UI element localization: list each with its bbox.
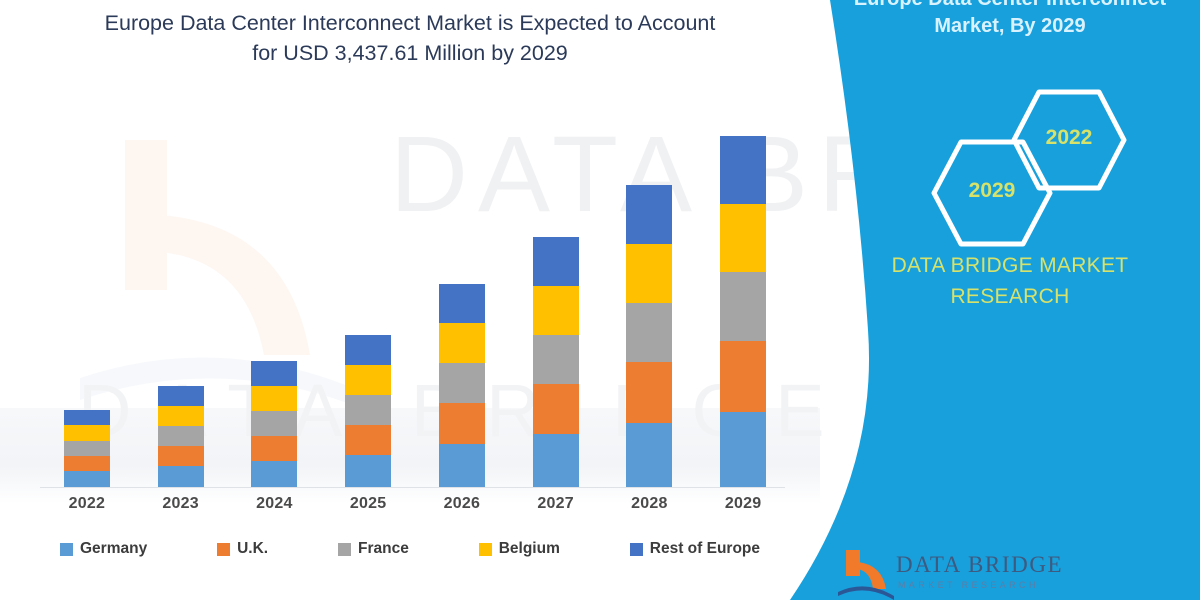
- bar-group-2028: [604, 100, 694, 487]
- legend-label: U.K.: [237, 540, 268, 558]
- right-panel-title: Europe Data Center Interconnect Market, …: [830, 0, 1190, 40]
- legend-item-belgium[interactable]: Belgium: [479, 540, 560, 558]
- bar-segment-france[interactable]: [533, 335, 579, 384]
- x-axis-label-2025: 2025: [323, 495, 413, 513]
- right-panel-title-line-1: Europe Data Center Interconnect: [854, 0, 1166, 10]
- chart-legend: GermanyU.K.FranceBelgiumRest of Europe: [60, 540, 760, 558]
- stacked-bar-2023[interactable]: [158, 386, 204, 487]
- bar-segment-france[interactable]: [251, 411, 297, 436]
- bar-segment-rest-of-europe[interactable]: [251, 361, 297, 386]
- x-axis-label-2028: 2028: [604, 495, 694, 513]
- bar-segment-rest-of-europe[interactable]: [533, 237, 579, 286]
- bar-group-2027: [511, 100, 601, 487]
- bar-segment-germany[interactable]: [251, 461, 297, 487]
- stacked-bar-2024[interactable]: [251, 361, 297, 487]
- legend-swatch-icon: [479, 543, 492, 556]
- legend-swatch-icon: [630, 543, 643, 556]
- bar-segment-rest-of-europe[interactable]: [626, 185, 672, 244]
- bar-segment-belgium[interactable]: [251, 386, 297, 411]
- footer-logo: DATA BRIDGE MARKET RESEARCH: [838, 548, 1138, 600]
- legend-item-france[interactable]: France: [338, 540, 409, 558]
- bar-segment-rest-of-europe[interactable]: [158, 386, 204, 406]
- legend-swatch-icon: [60, 543, 73, 556]
- legend-label: Belgium: [499, 540, 560, 558]
- legend-swatch-icon: [338, 543, 351, 556]
- bar-segment-u-k[interactable]: [626, 362, 672, 423]
- bar-segment-u-k[interactable]: [533, 384, 579, 434]
- x-axis-label-2024: 2024: [229, 495, 319, 513]
- bar-segment-u-k[interactable]: [64, 456, 110, 471]
- bar-group-2023: [136, 100, 226, 487]
- x-axis-label-2023: 2023: [136, 495, 226, 513]
- bar-segment-rest-of-europe[interactable]: [345, 335, 391, 365]
- stacked-bar-2026[interactable]: [439, 284, 485, 487]
- bar-segment-germany[interactable]: [345, 455, 391, 487]
- bar-segment-germany[interactable]: [626, 423, 672, 487]
- stacked-bar-2022[interactable]: [64, 410, 110, 487]
- x-axis-label-2022: 2022: [42, 495, 132, 513]
- bar-segment-germany[interactable]: [439, 444, 485, 487]
- page-title-line-1: Europe Data Center Interconnect Market i…: [105, 11, 716, 35]
- legend-label: Rest of Europe: [650, 540, 760, 558]
- bar-segment-belgium[interactable]: [626, 244, 672, 303]
- legend-label: Germany: [80, 540, 147, 558]
- bar-segment-germany[interactable]: [158, 466, 204, 487]
- chart-panel: Europe Data Center Interconnect Market i…: [0, 0, 830, 600]
- hexagon-badges: 2022 2029: [820, 88, 1200, 228]
- legend-item-rest-of-europe[interactable]: Rest of Europe: [630, 540, 760, 558]
- hexagon-label-2029: 2029: [930, 179, 1054, 203]
- bar-segment-belgium[interactable]: [533, 286, 579, 335]
- bar-segment-u-k[interactable]: [345, 425, 391, 455]
- bar-segment-france[interactable]: [439, 363, 485, 403]
- stacked-bar-2027[interactable]: [533, 237, 579, 487]
- bar-segment-france[interactable]: [345, 395, 391, 425]
- bar-segment-france[interactable]: [64, 441, 110, 456]
- data-bridge-b-logo-icon: [838, 548, 894, 600]
- bar-segment-u-k[interactable]: [439, 403, 485, 444]
- right-panel-content: Europe Data Center Interconnect Market, …: [820, 0, 1200, 600]
- bar-segment-rest-of-europe[interactable]: [64, 410, 110, 425]
- x-axis-line: [40, 487, 785, 488]
- hexagon-badge-2029: 2029: [930, 138, 1054, 248]
- bar-segment-belgium[interactable]: [345, 365, 391, 395]
- right-panel-title-line-2: Market, By 2029: [934, 15, 1085, 37]
- bar-segment-belgium[interactable]: [439, 323, 485, 363]
- brand-name: DATA BRIDGE MARKET RESEARCH: [830, 250, 1190, 312]
- x-axis-label-2027: 2027: [511, 495, 601, 513]
- bar-group-2024: [229, 100, 319, 487]
- legend-item-germany[interactable]: Germany: [60, 540, 147, 558]
- brand-name-line-1: DATA BRIDGE MARKET: [892, 254, 1129, 277]
- bar-group-2026: [417, 100, 507, 487]
- legend-label: France: [358, 540, 409, 558]
- bar-segment-u-k[interactable]: [251, 436, 297, 461]
- x-axis-labels: 20222023202420252026202720282029: [40, 495, 790, 513]
- bar-segment-france[interactable]: [158, 426, 204, 446]
- footer-logo-subtext: MARKET RESEARCH: [898, 580, 1039, 590]
- bar-segment-belgium[interactable]: [64, 425, 110, 441]
- legend-item-u-k[interactable]: U.K.: [217, 540, 268, 558]
- bar-segment-belgium[interactable]: [158, 406, 204, 426]
- bar-group-2022: [42, 100, 132, 487]
- bar-segment-u-k[interactable]: [158, 446, 204, 466]
- brand-name-line-2: RESEARCH: [950, 285, 1069, 308]
- footer-logo-text: DATA BRIDGE: [896, 552, 1063, 578]
- bar-segment-rest-of-europe[interactable]: [439, 284, 485, 323]
- page-title: Europe Data Center Interconnect Market i…: [60, 8, 760, 68]
- bar-group-2025: [323, 100, 413, 487]
- bar-segment-germany[interactable]: [64, 471, 110, 487]
- bar-segment-germany[interactable]: [533, 434, 579, 487]
- page-title-line-2: for USD 3,437.61 Million by 2029: [252, 41, 568, 65]
- bar-segment-france[interactable]: [626, 303, 672, 362]
- stacked-bar-2025[interactable]: [345, 335, 391, 487]
- legend-swatch-icon: [217, 543, 230, 556]
- infographic-root: DATA BRIDGE DATA BRIDGE RESEARCH Europe …: [0, 0, 1200, 600]
- x-axis-label-2026: 2026: [417, 495, 507, 513]
- stacked-bar-2028[interactable]: [626, 185, 672, 487]
- stacked-bar-chart: [40, 100, 790, 487]
